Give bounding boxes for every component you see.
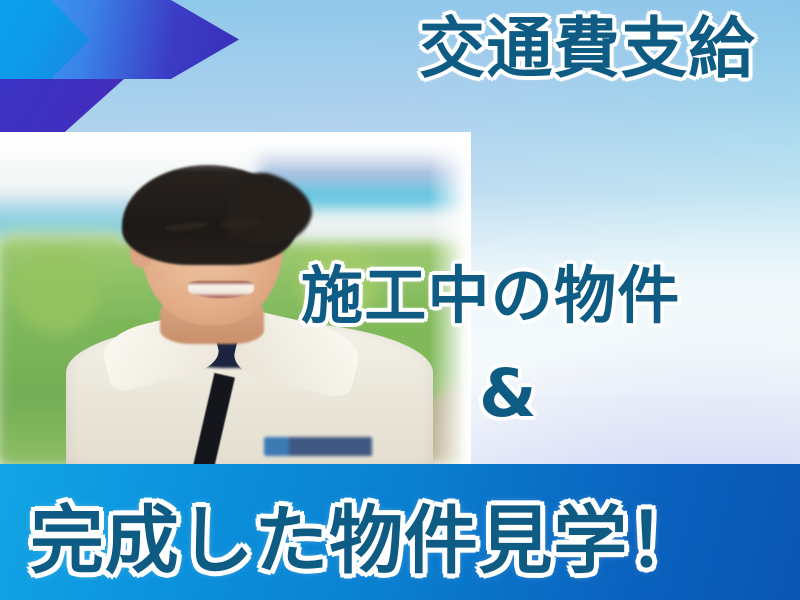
- photo-worker-smile: [188, 281, 254, 298]
- headline-transport-allowance: 交通費支給: [419, 16, 756, 82]
- photo-uniform-logo: [264, 437, 372, 455]
- recruitment-banner: 交通費支給 施工中の物件 & 完成した物件見学！: [0, 0, 800, 600]
- headline-under-construction-property: 施工中の物件: [301, 265, 680, 327]
- photo-top-fade: [0, 132, 471, 172]
- headline-ampersand: &: [479, 361, 538, 427]
- photo-worker-eye-right: [226, 235, 254, 241]
- headline-completed-property-tour: 完成した物件見学！: [30, 481, 703, 588]
